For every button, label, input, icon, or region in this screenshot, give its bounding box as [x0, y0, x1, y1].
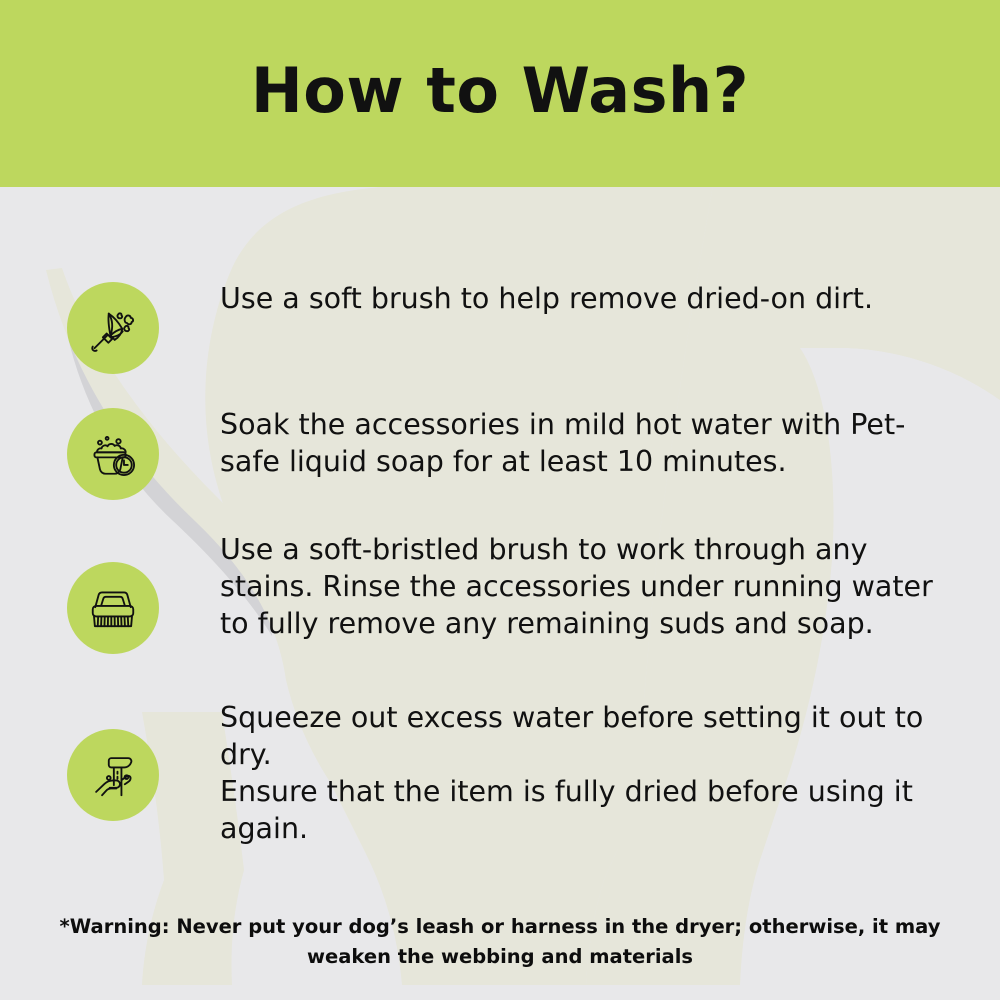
- step-text: Soak the accessories in mild hot water w…: [220, 406, 940, 480]
- step-icon-badge: [67, 282, 159, 374]
- step-icon-badge: [67, 408, 159, 500]
- infographic-poster: How to Wash?: [0, 0, 1000, 1000]
- warning-note: *Warning: Never put your dog’s leash or …: [0, 912, 1000, 972]
- step-icon-badge: [67, 729, 159, 821]
- step-text: Use a soft brush to help remove dried-on…: [220, 280, 940, 317]
- step-icon-badge: [67, 562, 159, 654]
- header-band: How to Wash?: [0, 0, 1000, 187]
- step-text: Squeeze out excess water before setting …: [220, 699, 940, 847]
- feather-duster-icon: [86, 301, 140, 355]
- scrub-brush-icon: [86, 581, 140, 635]
- soapy-basin-clock-icon: [86, 427, 140, 481]
- page-title: How to Wash?: [251, 60, 749, 128]
- hand-under-faucet-icon: [86, 748, 140, 802]
- step-text: Use a soft-bristled brush to work throug…: [220, 531, 940, 642]
